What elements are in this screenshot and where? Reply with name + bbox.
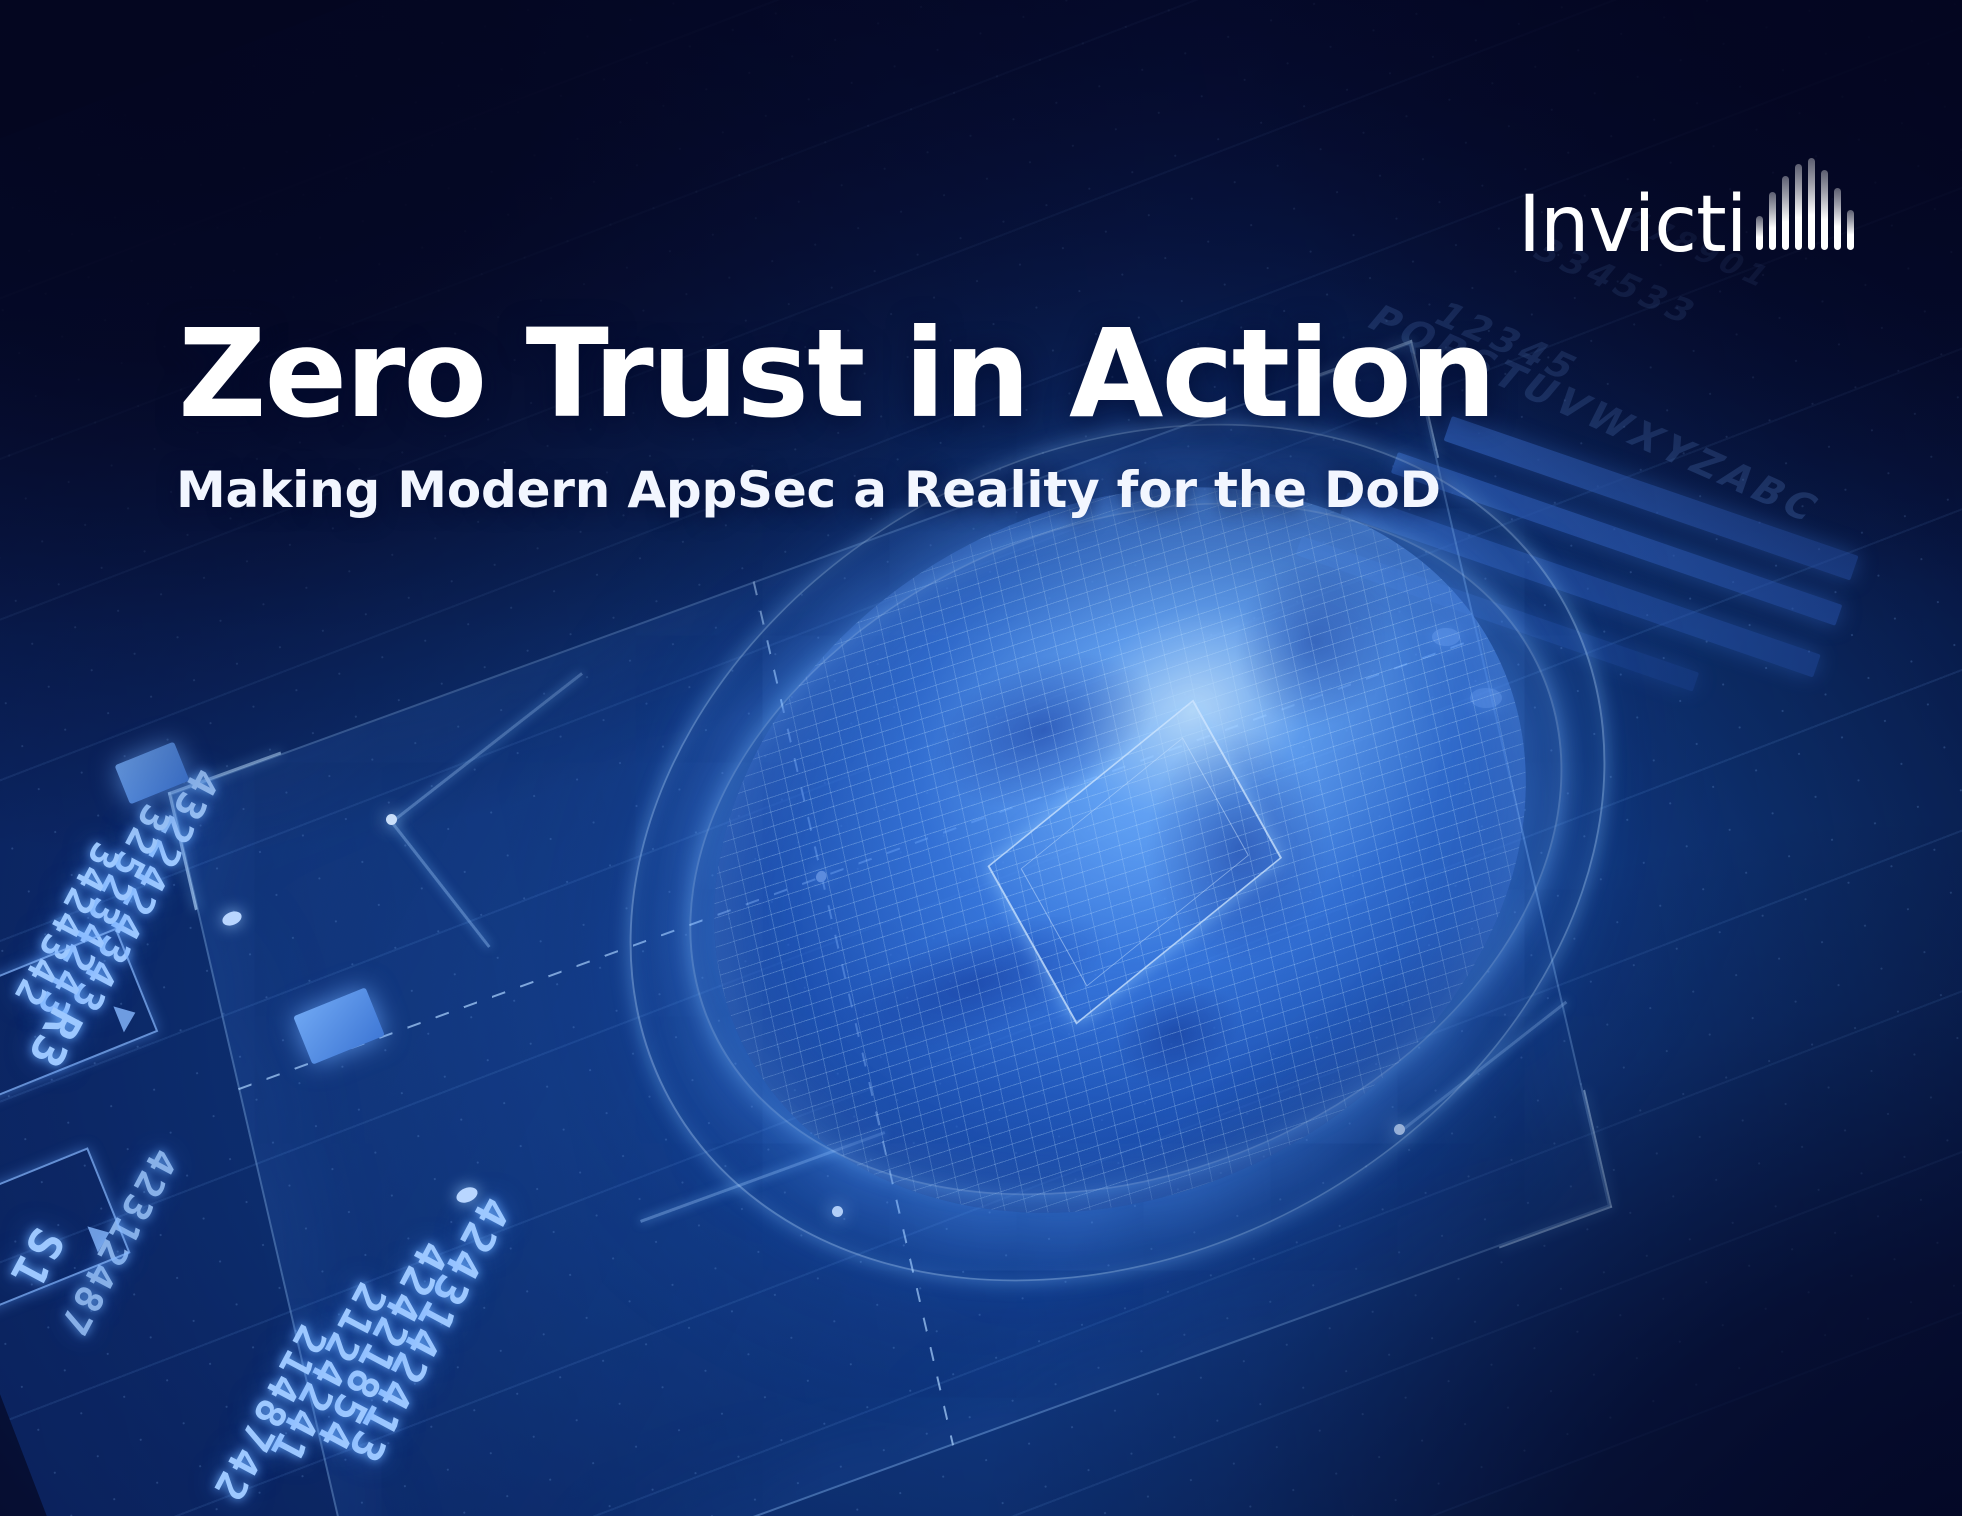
logo-bar [1834, 188, 1841, 250]
logo-bar [1795, 164, 1802, 250]
invicti-wordmark: Invicti [1518, 190, 1746, 262]
logo-bar [1821, 170, 1828, 250]
page-subtitle: Making Modern AppSec a Reality for the D… [176, 461, 1441, 519]
logo-bar [1808, 158, 1815, 250]
logo-bar [1782, 176, 1789, 250]
ebook-cover: 334533 12345 PQRSTUVWXYZABC 678901 [0, 0, 1962, 1516]
logo-bar [1756, 216, 1763, 250]
sound-bars-icon [1756, 158, 1854, 250]
logo-bar [1769, 192, 1776, 250]
page-title: Zero Trust in Action [178, 312, 1495, 436]
logo-bar [1847, 210, 1854, 250]
invicti-logo[interactable]: Invicti [1518, 158, 1854, 262]
